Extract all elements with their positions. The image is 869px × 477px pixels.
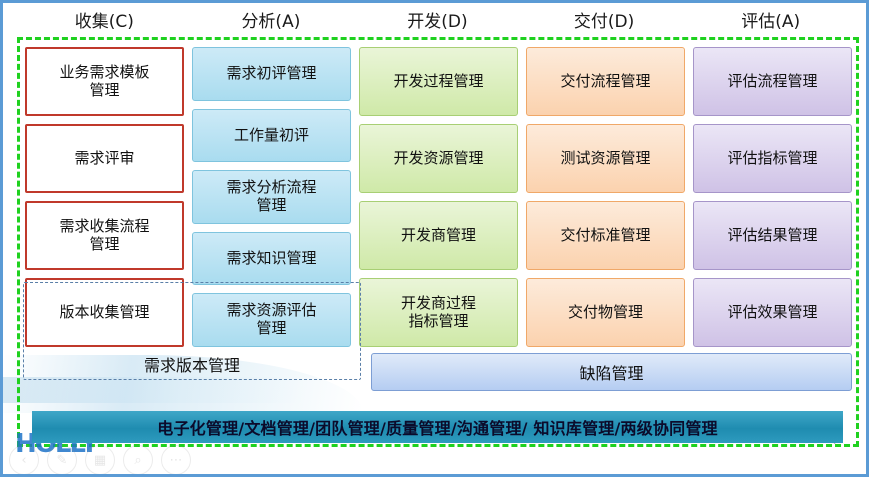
grid-icon: ▦: [85, 445, 115, 475]
card-requirement-resource-eval[interactable]: 需求资源评估 管理: [192, 293, 351, 347]
card-development-process[interactable]: 开发过程管理: [359, 47, 518, 116]
card-workload-estimate[interactable]: 工作量初评: [192, 109, 351, 163]
column-header-delivery: 交付(D): [521, 9, 688, 37]
more-icon: ⋯: [161, 445, 191, 475]
chevron-left-icon: ‹: [9, 445, 39, 475]
column-header-analysis: 分析(A): [188, 9, 355, 37]
column-delivery: 交付流程管理 测试资源管理 交付标准管理 交付物管理: [526, 47, 685, 347]
card-requirement-analysis-process[interactable]: 需求分析流程 管理: [192, 170, 351, 224]
card-evaluation-metrics[interactable]: 评估指标管理: [693, 124, 852, 193]
defect-management-bar[interactable]: 缺陷管理: [371, 353, 852, 391]
card-requirement-review[interactable]: 需求评审: [25, 124, 184, 193]
bottom-banner: 电子化管理/文档管理/团队管理/质量管理/沟通管理/ 知识库管理/两级协同管理: [32, 411, 843, 443]
card-vendor-process-metrics[interactable]: 开发商过程 指标管理: [359, 278, 518, 347]
column-analysis: 需求初评管理 工作量初评 需求分析流程 管理 需求知识管理 需求资源评估 管理: [192, 47, 351, 347]
column-header-collect: 收集(C): [21, 9, 188, 37]
column-header-row: 收集(C) 分析(A) 开发(D) 交付(D) 评估(A): [21, 9, 854, 37]
card-deliverable[interactable]: 交付物管理: [526, 278, 685, 347]
card-requirement-collection-process[interactable]: 需求收集流程 管理: [25, 201, 184, 270]
card-business-requirement-template[interactable]: 业务需求模板 管理: [25, 47, 184, 116]
slide-canvas: 收集(C) 分析(A) 开发(D) 交付(D) 评估(A) 业务需求模板 管理 …: [0, 0, 869, 477]
card-test-resource[interactable]: 测试资源管理: [526, 124, 685, 193]
card-delivery-process[interactable]: 交付流程管理: [526, 47, 685, 116]
capability-grid: 业务需求模板 管理 需求评审 需求收集流程 管理 版本收集管理 需求初评管理 工…: [25, 47, 852, 347]
card-requirement-knowledge[interactable]: 需求知识管理: [192, 232, 351, 286]
pen-icon: ✎: [47, 445, 77, 475]
watermark-icon-row: ‹ ✎ ▦ ⌕ ⋯: [9, 445, 191, 475]
card-evaluation-result[interactable]: 评估结果管理: [693, 201, 852, 270]
column-header-evaluation: 评估(A): [687, 9, 854, 37]
requirement-version-group-label: 需求版本管理: [23, 351, 361, 377]
card-evaluation-effect[interactable]: 评估效果管理: [693, 278, 852, 347]
bottom-banner-label: 电子化管理/文档管理/团队管理/质量管理/沟通管理/ 知识库管理/两级协同管理: [157, 415, 717, 439]
column-header-development: 开发(D): [354, 9, 521, 37]
search-icon: ⌕: [123, 445, 153, 475]
column-collect: 业务需求模板 管理 需求评审 需求收集流程 管理 版本收集管理: [25, 47, 184, 347]
card-requirement-initial-review[interactable]: 需求初评管理: [192, 47, 351, 101]
column-evaluation: 评估流程管理 评估指标管理 评估结果管理 评估效果管理: [693, 47, 852, 347]
card-version-collection[interactable]: 版本收集管理: [25, 278, 184, 347]
card-development-resource[interactable]: 开发资源管理: [359, 124, 518, 193]
card-evaluation-process[interactable]: 评估流程管理: [693, 47, 852, 116]
column-development: 开发过程管理 开发资源管理 开发商管理 开发商过程 指标管理: [359, 47, 518, 347]
card-developer-vendor[interactable]: 开发商管理: [359, 201, 518, 270]
card-delivery-standard[interactable]: 交付标准管理: [526, 201, 685, 270]
